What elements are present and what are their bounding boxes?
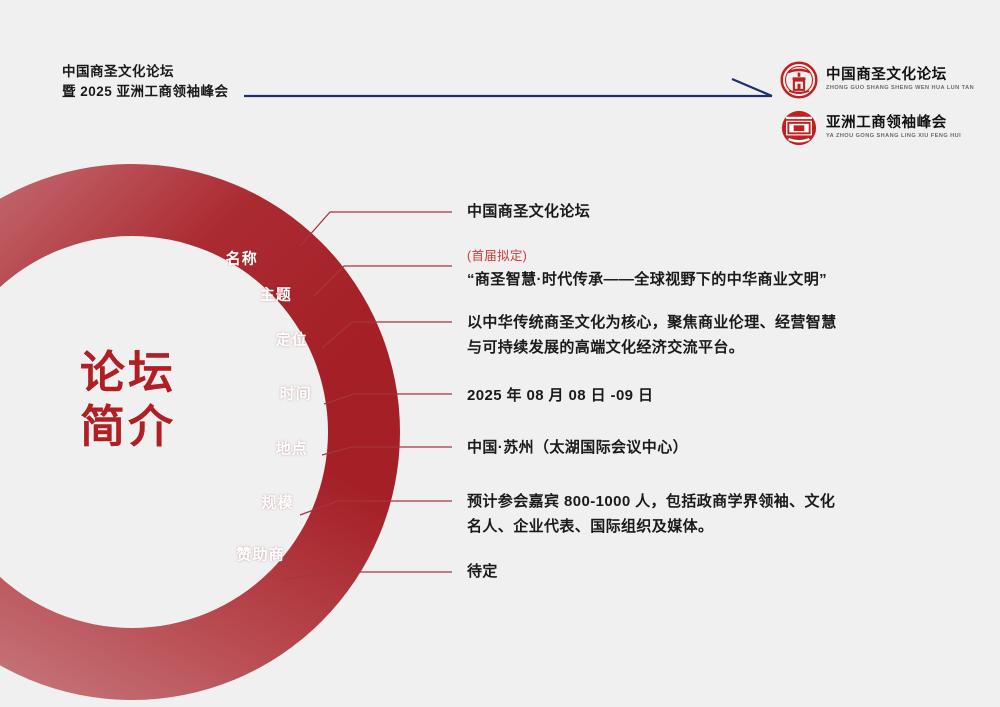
ring-label-0: 名称 <box>226 248 258 269</box>
logo-group: 中国商圣文化论坛 ZHONG GUO SHANG SHENG WEN HUA L… <box>780 58 976 154</box>
center-line-1: 论坛 <box>80 347 176 398</box>
detail-item-0: 中国商圣文化论坛 <box>467 199 590 224</box>
ring-label-2: 定位 <box>276 329 308 350</box>
ring-label-3: 时间 <box>280 383 312 404</box>
detail-item-text: 2025 年 08 月 08 日 -09 日 <box>467 383 653 408</box>
logo-pinyin: YA ZHOU GONG SHANG LING XIU FENG HUI <box>826 132 961 141</box>
detail-item-text: 待定 <box>467 559 498 584</box>
logo-pinyin: ZHONG GUO SHANG SHENG WEN HUA LUN TAN <box>826 84 974 93</box>
logo-item: 亚洲工商领袖峰会 YA ZHOU GONG SHANG LING XIU FEN… <box>780 106 976 150</box>
detail-item-text: 中国商圣文化论坛 <box>467 199 590 224</box>
logo-item: 中国商圣文化论坛 ZHONG GUO SHANG SHENG WEN HUA L… <box>780 58 976 102</box>
center-line-2: 简介 <box>80 401 176 452</box>
header-arrow-rule <box>244 78 774 104</box>
detail-item-5: 预计参会嘉宾 800-1000 人，包括政商学界领袖、文化 名人、企业代表、国际… <box>467 489 835 539</box>
detail-item-3: 2025 年 08 月 08 日 -09 日 <box>467 383 653 408</box>
ring-label-4: 地点 <box>276 438 308 459</box>
header-title-line1: 中国商圣文化论坛 <box>62 64 174 79</box>
seal-square-icon <box>780 109 818 147</box>
detail-item-text: 中国·苏州（太湖国际会议中心） <box>467 435 688 460</box>
detail-item-1: (首届拟定)“商圣智慧·时代传承——全球视野下的中华商业文明” <box>467 247 827 292</box>
detail-item-text: “商圣智慧·时代传承——全球视野下的中华商业文明” <box>467 267 827 292</box>
detail-item-note: (首届拟定) <box>467 247 827 265</box>
detail-item-text: 预计参会嘉宾 800-1000 人，包括政商学界领袖、文化 名人、企业代表、国际… <box>467 489 835 539</box>
detail-item-4: 中国·苏州（太湖国际会议中心） <box>467 435 688 460</box>
detail-item-text: 以中华传统商圣文化为核心，聚焦商业伦理、经营智慧 与可持续发展的高端文化经济交流… <box>467 310 837 360</box>
header-title: 中国商圣文化论坛暨 2025 亚洲工商领袖峰会 <box>62 62 229 102</box>
ring-label-6: 赞助商 <box>236 544 285 565</box>
detail-item-6: 待定 <box>467 559 498 584</box>
logo-title: 亚洲工商领袖峰会 <box>826 115 961 132</box>
donut-ring <box>0 132 432 707</box>
ring-label-5: 规模 <box>262 492 294 513</box>
donut-center-text: 论坛简介 <box>80 346 176 454</box>
arrow-right-icon <box>732 79 772 96</box>
detail-item-2: 以中华传统商圣文化为核心，聚焦商业伦理、经营智慧 与可持续发展的高端文化经济交流… <box>467 310 837 360</box>
header-title-line2: 暨 2025 亚洲工商领袖峰会 <box>62 84 229 99</box>
ring-label-1: 主题 <box>260 284 292 305</box>
poster-canvas: 中国商圣文化论坛暨 2025 亚洲工商领袖峰会 中国商圣文化论坛 ZHONG G… <box>0 0 1000 707</box>
logo-title: 中国商圣文化论坛 <box>826 67 974 84</box>
seal-round-icon <box>780 61 818 99</box>
